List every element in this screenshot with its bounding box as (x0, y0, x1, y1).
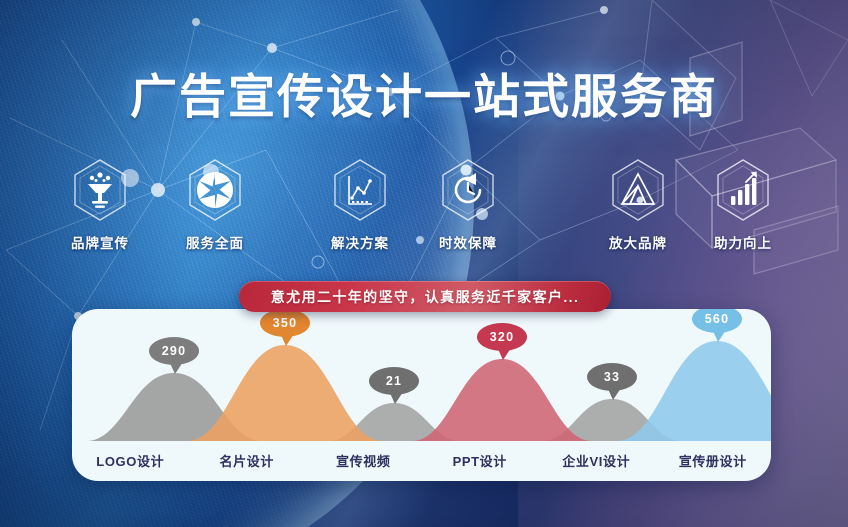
feature-label: 放大品牌 (590, 232, 686, 252)
value-bubble-label: 290 (162, 344, 186, 358)
feature-label: 时效保障 (420, 232, 516, 252)
feature-item-brand[interactable]: 品牌宣传 (52, 158, 148, 252)
feature-item-solution[interactable]: 解决方案 (312, 158, 408, 252)
feature-item-amplify[interactable]: 放大品牌 (590, 158, 686, 252)
value-bubble-label: 21 (386, 374, 402, 388)
axis-label: PPT设计 (422, 451, 539, 470)
tagline-ribbon: 意尤用二十年的坚守，认真服务近千家客户... (239, 281, 611, 312)
camera-aperture-icon (186, 158, 244, 222)
feature-label: 品牌宣传 (52, 232, 148, 252)
chart-hump (412, 359, 592, 441)
value-bubble-label: 560 (705, 312, 729, 326)
chart-hump (187, 345, 383, 441)
clock-rewind-icon (439, 158, 497, 222)
axis-label: 宣传视频 (305, 451, 422, 470)
chart-panel: LOGO设计 名片设计 宣传视频 PPT设计 企业VI设计 宣传册设计 290 … (72, 309, 771, 481)
feature-item-growth[interactable]: 助力向上 (695, 158, 791, 252)
value-bubble-label: 33 (604, 370, 620, 384)
chart-axis-labels: LOGO设计 名片设计 宣传视频 PPT设计 企业VI设计 宣传册设计 (72, 451, 771, 470)
feature-label: 解决方案 (312, 232, 408, 252)
triangle-pyramid-icon (609, 158, 667, 222)
page-title: 广告宣传设计一站式服务商 (0, 58, 848, 127)
axis-label: 企业VI设计 (538, 451, 655, 470)
feature-label: 助力向上 (695, 232, 791, 252)
axis-label: 名片设计 (189, 451, 306, 470)
axis-label: LOGO设计 (72, 451, 189, 470)
tagline-text: 意尤用二十年的坚守，认真服务近千家客户... (271, 287, 579, 307)
megaphone-broadcast-icon (71, 158, 129, 222)
promo-banner-canvas: 广告宣传设计一站式服务商 品牌宣传 (0, 0, 848, 527)
feature-item-service[interactable]: 服务全面 (167, 158, 263, 252)
feature-item-timeliness[interactable]: 时效保障 (420, 158, 516, 252)
line-chart-icon (331, 158, 389, 222)
axis-label: 宣传册设计 (655, 451, 772, 470)
feature-label: 服务全面 (167, 232, 263, 252)
value-bubble-label: 350 (273, 316, 297, 330)
bar-chart-arrow-icon (714, 158, 772, 222)
value-bubble-label: 320 (490, 330, 514, 344)
